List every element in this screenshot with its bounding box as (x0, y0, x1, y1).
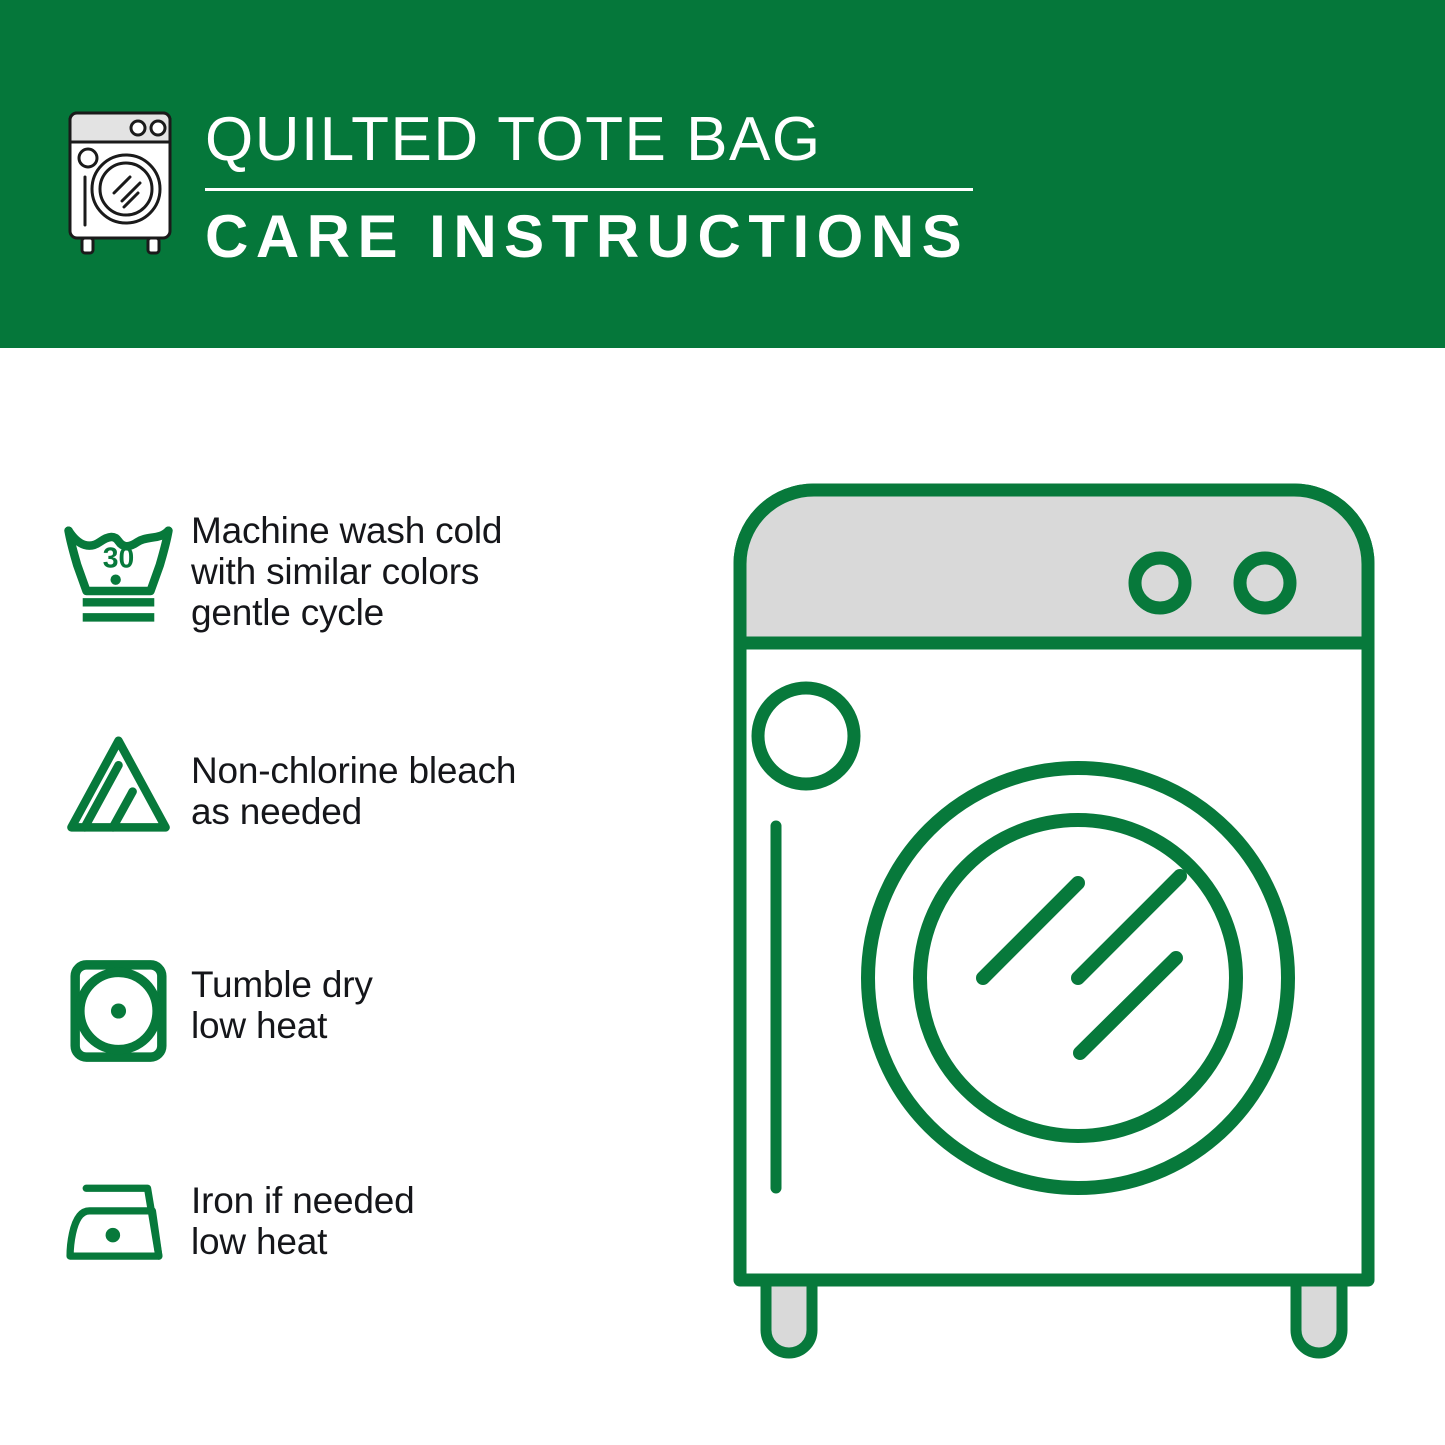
care-text: Machine wash cold with similar colors ge… (175, 500, 502, 633)
washing-machine-icon (62, 103, 184, 255)
front-load-washing-machine-illustration (728, 478, 1398, 1368)
care-text-line: low heat (191, 1221, 414, 1262)
wash-tub-30-gentle-icon: 30 (0, 500, 175, 650)
non-chlorine-bleach-triangle-icon (0, 710, 175, 860)
care-text: Iron if needed low heat (175, 1148, 414, 1262)
title-divider (205, 188, 973, 191)
care-row: Iron if needed low heat (0, 1148, 700, 1298)
care-text: Non-chlorine bleach as needed (175, 710, 516, 832)
page-title: QUILTED TOTE BAG (205, 104, 995, 176)
care-text-line: as needed (191, 791, 516, 832)
care-text-line: low heat (191, 1005, 373, 1046)
washer-control-panel (746, 496, 1362, 643)
care-row: 30 Machine wash cold with similar colors… (0, 500, 700, 650)
tumble-dry-low-icon (0, 936, 175, 1086)
washer-leg (1296, 1278, 1342, 1353)
washer-leg (766, 1278, 812, 1353)
care-instruction-list: 30 Machine wash cold with similar colors… (0, 348, 720, 1445)
wash-temperature-label: 30 (103, 541, 134, 573)
page-subtitle: CARE INSTRUCTIONS (205, 204, 995, 270)
iron-low-heat-icon (0, 1148, 175, 1298)
care-text: Tumble dry low heat (175, 936, 373, 1046)
care-text-line: gentle cycle (191, 592, 502, 633)
header-text-block: QUILTED TOTE BAG CARE INSTRUCTIONS (205, 104, 995, 270)
care-row: Tumble dry low heat (0, 936, 700, 1086)
header-banner: QUILTED TOTE BAG CARE INSTRUCTIONS (0, 0, 1445, 348)
care-row: Non-chlorine bleach as needed (0, 710, 700, 860)
care-instructions-infographic: QUILTED TOTE BAG CARE INSTRUCTIONS (0, 0, 1445, 1445)
care-text-line: Non-chlorine bleach (191, 750, 516, 791)
care-text-line: Machine wash cold (191, 510, 502, 551)
care-text-line: with similar colors (191, 551, 502, 592)
care-text-line: Iron if needed (191, 1180, 414, 1221)
care-text-line: Tumble dry (191, 964, 373, 1005)
